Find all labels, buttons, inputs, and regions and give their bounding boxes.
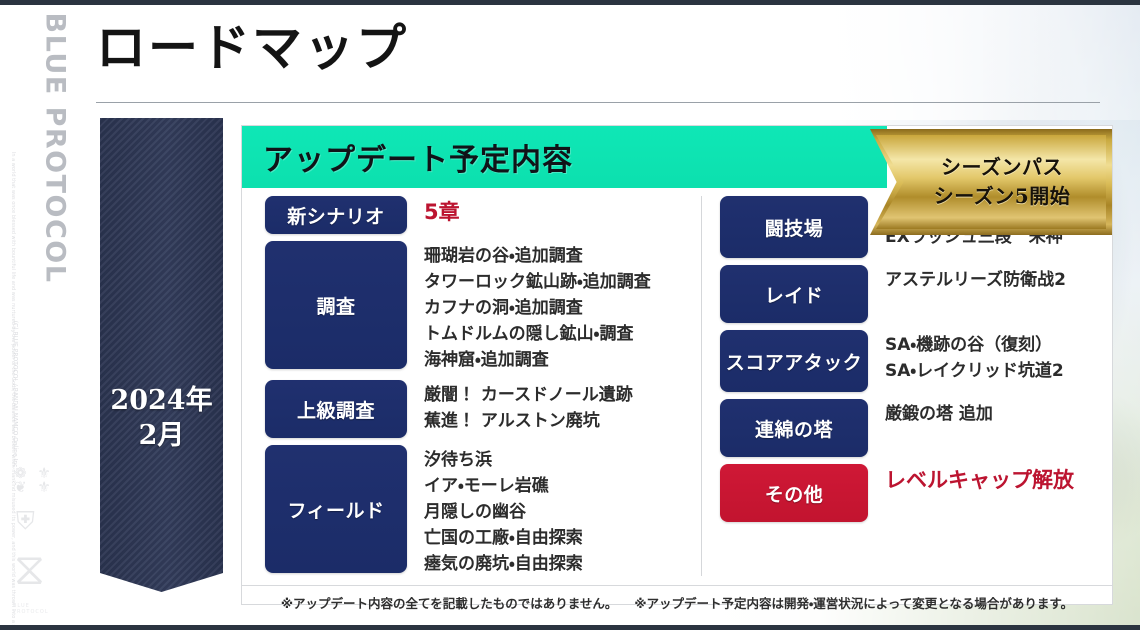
category-item: SA・機跡の谷（復刻）	[885, 332, 1064, 358]
brand-sigil-icon: ⧖	[14, 548, 45, 592]
category-item: 5章	[424, 199, 460, 225]
page-title: ロードマップ	[96, 12, 408, 84]
brand-strip: BLUE PROTOCOL In a world that was once b…	[0, 0, 62, 630]
content-row: スコアアタックSA・機跡の谷（復刻）SA・レイクリッド坑道2	[720, 330, 1102, 392]
category-item: 亡国の工廠・自由探索	[424, 525, 583, 551]
brand-logotype: BLUE PROTOCOL	[40, 13, 71, 203]
category-items: 5章	[407, 196, 460, 225]
slide-bottom-edge	[0, 625, 1140, 630]
category-item: 蕉進！ アルストン廃坑	[424, 408, 633, 434]
season-pass-ribbon: シーズンパス シーズン5開始	[870, 129, 1112, 235]
category-items: 厳闇！ カースドノール遺跡蕉進！ アルストン廃坑	[407, 380, 633, 434]
brand-crest-icon: ⛨	[16, 506, 35, 536]
brand-copyright-line: (C) BLUE PROTOCOL / BANDAI NAMCO Online …	[9, 321, 20, 461]
season-pass-line1: シーズンパス	[934, 153, 1070, 182]
category-item: 珊瑚岩の谷・追加調査	[424, 243, 651, 269]
category-item: SA・レイクリッド坑道2	[885, 358, 1064, 384]
update-content-card: アップデート予定内容 シーズンパス シーズン5開始 新シナリオ5章調査珊瑚岩の谷…	[241, 125, 1113, 605]
footnote-1: ※アップデート内容の全てを記載したものではありません。	[281, 593, 618, 612]
category-item: タワーロック鉱山跡・追加調査	[424, 269, 651, 295]
right-content-column: 闘技場ラッシュバトル六段EXラッシュ三段 朱神レイドアステルリーズ防衛战2スコア…	[720, 196, 1102, 529]
category-badge: スコアアタック	[720, 330, 868, 392]
date-ribbon-text: 2024年 2月	[100, 383, 223, 453]
category-badge: レイド	[720, 265, 868, 323]
brand-ornament-icons: ❁ ⚜ ❦ ⚜	[14, 466, 54, 494]
category-item: カフナの洞・追加調査	[424, 295, 651, 321]
date-month: 2月	[100, 418, 223, 453]
footnote-2: ※アップデート予定内容は開発・運営状況によって変更となる場合があります。	[634, 593, 1073, 612]
content-row: フィールド汐待ち浜イア・モーレ岩礁月隠しの幽谷亡国の工廠・自由探索瘗気の廃坑・自…	[265, 445, 685, 577]
category-item: 月隠しの幽谷	[424, 499, 583, 525]
content-row: 連綿の塔厳鍛の塔 追加	[720, 399, 1102, 457]
category-item: 厳闇！ カースドノール遺跡	[424, 382, 633, 408]
category-badge: 調査	[265, 241, 407, 369]
category-badge: フィールド	[265, 445, 407, 573]
category-badge: 上級調査	[265, 380, 407, 438]
category-badge: 連綿の塔	[720, 399, 868, 457]
update-header-label: アップデート予定内容	[263, 135, 573, 179]
category-item: トムドルムの隠し鉱山・調査	[424, 321, 651, 347]
content-row: レイドアステルリーズ防衛战2	[720, 265, 1102, 323]
category-item: アステルリーズ防衛战2	[885, 267, 1066, 293]
category-items: 厳鍛の塔 追加	[868, 399, 993, 427]
season-pass-ribbon-text: シーズンパス シーズン5開始	[912, 153, 1070, 211]
category-item: レベルキャップ解放	[885, 467, 1074, 493]
category-items: レベルキャップ解放	[868, 464, 1074, 493]
footnotes: ※アップデート内容の全てを記載したものではありません。 ※アップデート予定内容は…	[242, 586, 1112, 606]
category-items: SA・機跡の谷（復刻）SA・レイクリッド坑道2	[868, 330, 1064, 384]
category-item: 厳鍛の塔 追加	[885, 401, 993, 427]
update-header-bar: アップデート予定内容	[242, 126, 887, 188]
category-items: 珊瑚岩の谷・追加調査タワーロック鉱山跡・追加調査カフナの洞・追加調査トムドルムの…	[407, 241, 651, 373]
slide-top-edge	[0, 0, 1140, 5]
category-item: イア・モーレ岩礁	[424, 473, 583, 499]
season-pass-line2: シーズン5開始	[934, 182, 1070, 211]
category-item: 汐待ち浜	[424, 447, 583, 473]
date-ribbon: 2024年 2月	[100, 118, 223, 592]
content-row: その他レベルキャップ解放	[720, 464, 1102, 522]
brand-baseline-text: BLUE PROTOCOL	[13, 603, 62, 615]
content-row: 新シナリオ5章	[265, 196, 685, 234]
category-badge: 闘技場	[720, 196, 868, 258]
category-item: 海神窟・追加調査	[424, 347, 651, 373]
content-row: 上級調査厳闇！ カースドノール遺跡蕉進！ アルストン廃坑	[265, 380, 685, 438]
date-year: 2024年	[100, 383, 223, 418]
roadmap-slide: BLUE PROTOCOL In a world that was once b…	[0, 0, 1140, 630]
title-divider	[96, 102, 1100, 103]
category-items: アステルリーズ防衛战2	[868, 265, 1066, 293]
column-divider	[701, 196, 702, 576]
left-content-column: 新シナリオ5章調査珊瑚岩の谷・追加調査タワーロック鉱山跡・追加調査カフナの洞・追…	[265, 196, 685, 584]
category-item: 瘗気の廃坑・自由探索	[424, 551, 583, 577]
category-items: 汐待ち浜イア・モーレ岩礁月隠しの幽谷亡国の工廠・自由探索瘗気の廃坑・自由探索	[407, 445, 583, 577]
content-row: 調査珊瑚岩の谷・追加調査タワーロック鉱山跡・追加調査カフナの洞・追加調査トムドル…	[265, 241, 685, 373]
category-badge: 新シナリオ	[265, 196, 407, 234]
category-badge: その他	[720, 464, 868, 522]
